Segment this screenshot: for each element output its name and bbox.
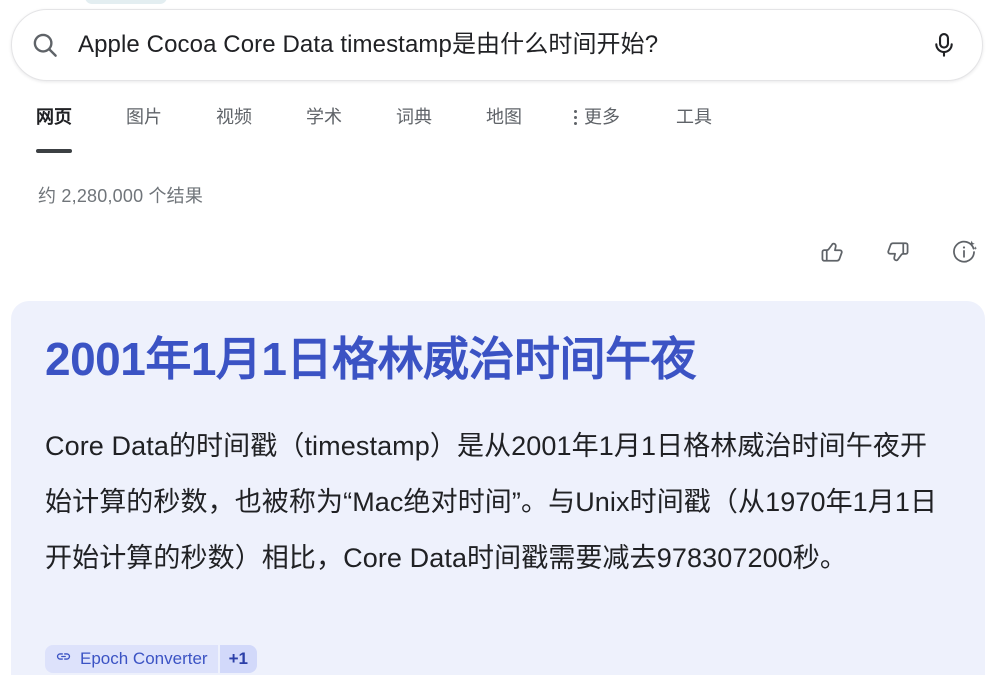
tab-web[interactable]: 网页 [36, 104, 72, 136]
search-icon[interactable] [12, 30, 78, 60]
answer-heading: 2001年1月1日格林威治时间午夜 [45, 331, 696, 387]
thumbs-down-icon[interactable] [882, 236, 914, 268]
search-bar[interactable] [11, 9, 983, 81]
tab-label: 地图 [486, 104, 522, 130]
top-cutoff-chip [85, 0, 167, 4]
tab-videos[interactable]: 视频 [216, 104, 252, 136]
source-label: Epoch Converter [80, 649, 208, 669]
thumbs-up-icon[interactable] [816, 236, 848, 268]
tab-tools[interactable]: 工具 [676, 104, 712, 136]
microphone-icon[interactable] [906, 31, 982, 59]
tab-label: 视频 [216, 104, 252, 130]
tab-label: 图片 [126, 104, 162, 130]
tab-maps[interactable]: 地图 [486, 104, 522, 136]
vertical-dots-icon [574, 107, 577, 127]
active-tab-underline [36, 149, 72, 153]
source-chip-epoch-converter[interactable]: Epoch Converter [45, 645, 218, 673]
answer-body-text: Core Data的时间戳（timestamp）是从2001年1月1日格林威治时… [45, 418, 950, 586]
answer-sources: Epoch Converter +1 [45, 645, 257, 673]
tab-scholar[interactable]: 学术 [306, 104, 342, 136]
search-tabs: 网页 图片 视频 学术 词典 地图 更多 工具 [0, 104, 994, 152]
tab-label: 学术 [306, 104, 342, 130]
search-input[interactable] [78, 25, 906, 65]
link-icon [55, 648, 72, 670]
tab-images[interactable]: 图片 [126, 104, 162, 136]
ai-answer-card: 2001年1月1日格林威治时间午夜 Core Data的时间戳（timestam… [11, 301, 985, 675]
tab-label: 工具 [676, 104, 712, 130]
result-count: 约 2,280,000 个结果 [38, 182, 203, 208]
tab-dictionary[interactable]: 词典 [396, 104, 432, 136]
tab-label: 词典 [396, 104, 432, 130]
source-more-badge[interactable]: +1 [220, 645, 257, 673]
feedback-actions [816, 236, 980, 268]
info-sparkle-icon[interactable] [948, 236, 980, 268]
tab-label: 更多 [584, 104, 620, 130]
tab-more[interactable]: 更多 [574, 104, 620, 136]
tab-label: 网页 [36, 104, 72, 130]
